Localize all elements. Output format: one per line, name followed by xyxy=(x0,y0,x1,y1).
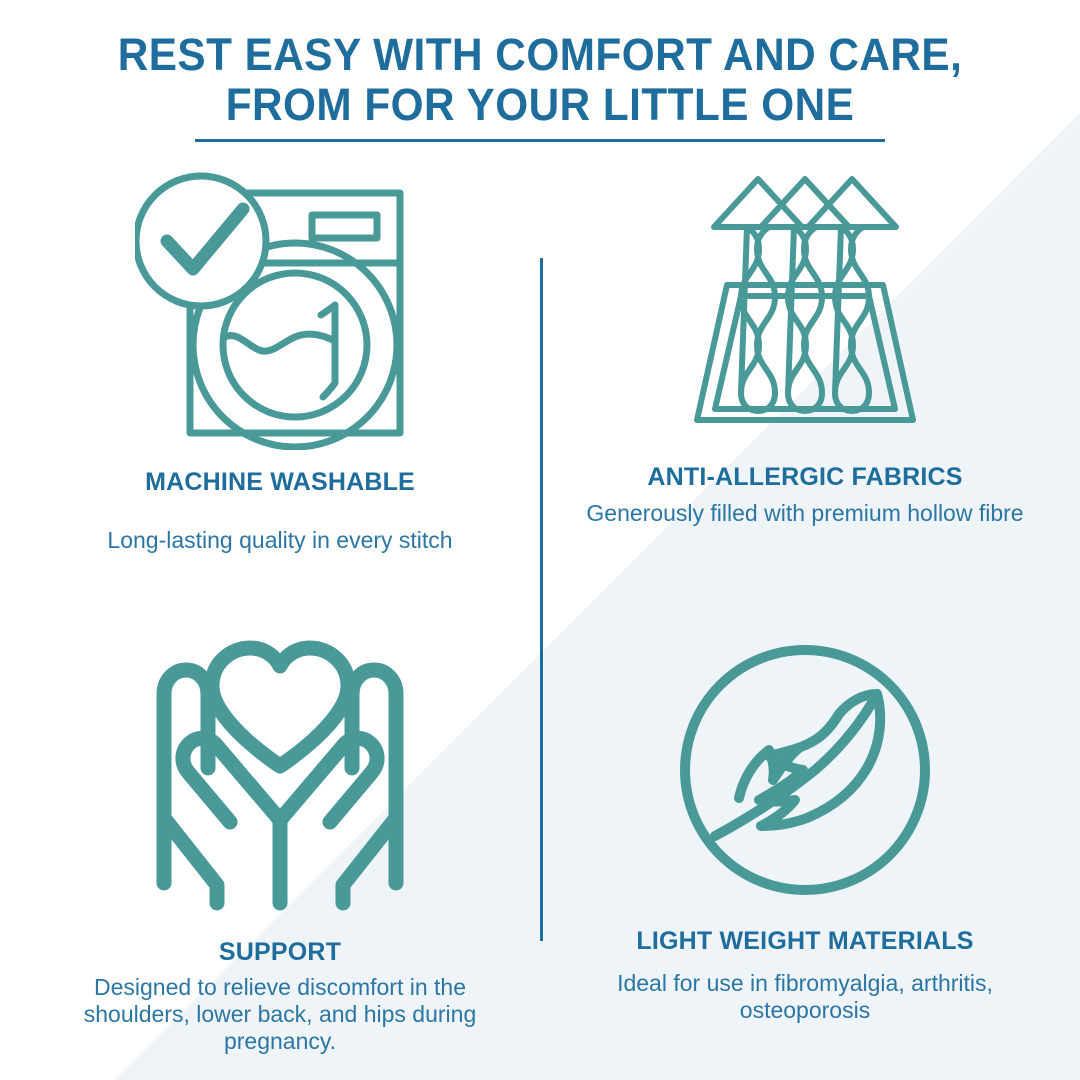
title-underline xyxy=(195,139,885,142)
feather-in-circle-icon xyxy=(673,640,938,905)
feature-title: MACHINE WASHABLE xyxy=(40,468,520,496)
feature-support: SUPPORT Designed to relieve discomfort i… xyxy=(40,638,520,1055)
feature-machine-washable: MACHINE WASHABLE Long-lasting quality in… xyxy=(40,165,520,554)
feature-anti-allergic-fabrics: ANTI-ALLERGIC FABRICS Generously filled … xyxy=(570,175,1040,527)
feature-title: LIGHT WEIGHT MATERIALS xyxy=(570,927,1040,955)
infographic-page: REST EASY WITH COMFORT AND CARE, FROM FO… xyxy=(0,0,1080,1080)
feature-light-weight-materials: LIGHT WEIGHT MATERIALS Ideal for use in … xyxy=(570,640,1040,1024)
feature-description: Long-lasting quality in every stitch xyxy=(40,527,520,554)
page-title-line-1: REST EASY WITH COMFORT AND CARE, xyxy=(32,30,1047,80)
breathable-fabric-arrows-icon xyxy=(675,175,935,445)
washing-machine-check-icon xyxy=(135,165,425,450)
feature-description: Ideal for use in fibromyalgia, arthritis… xyxy=(570,970,1040,1024)
feature-title: ANTI-ALLERGIC FABRICS xyxy=(570,463,1040,491)
column-divider xyxy=(540,258,543,941)
feature-title: SUPPORT xyxy=(40,938,520,966)
feature-description: Designed to relieve discomfort in the sh… xyxy=(40,974,520,1055)
hands-holding-heart-icon xyxy=(140,638,420,913)
page-title-line-2: FROM FOR YOUR LITTLE ONE xyxy=(32,80,1047,130)
page-title: REST EASY WITH COMFORT AND CARE, FROM FO… xyxy=(0,30,1080,142)
feature-description: Generously filled with premium hollow fi… xyxy=(570,500,1040,527)
